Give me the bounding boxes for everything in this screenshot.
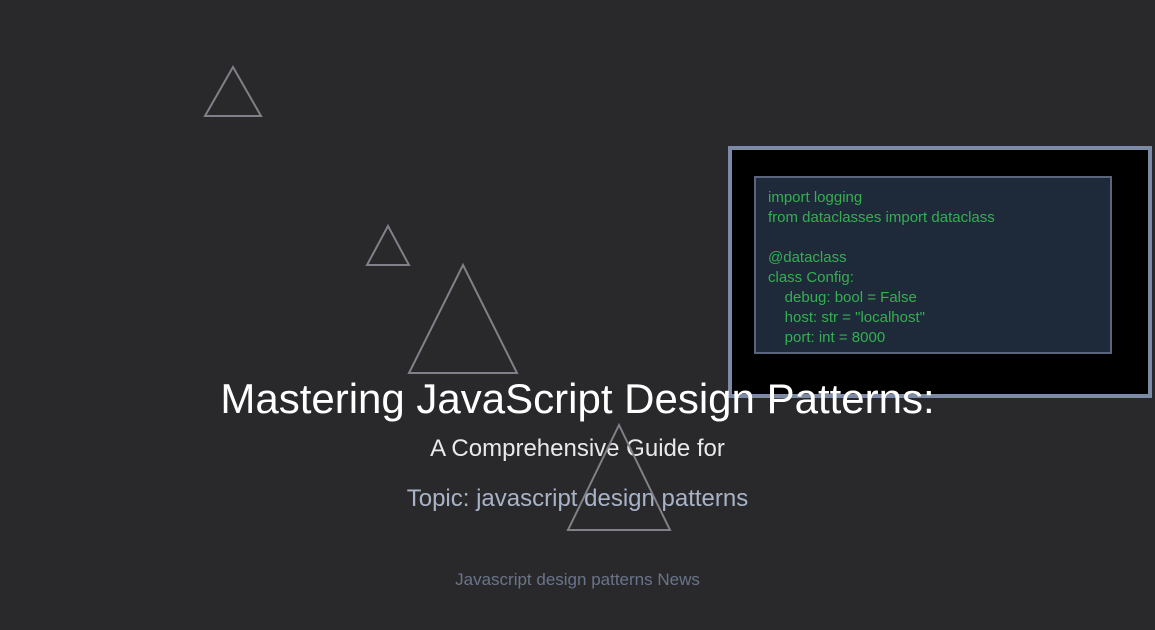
page-title: Mastering JavaScript Design Patterns: [0,374,1155,424]
slide-subtitle: A Comprehensive Guide for [0,433,1155,465]
presentation-slide: import logging from dataclasses import d… [0,0,1155,630]
slide-topic: Topic: javascript design patterns [0,483,1155,515]
slide-footer: Javascript design patterns News [0,568,1155,592]
slide-text-layer: Mastering JavaScript Design Patterns: A … [0,0,1155,630]
